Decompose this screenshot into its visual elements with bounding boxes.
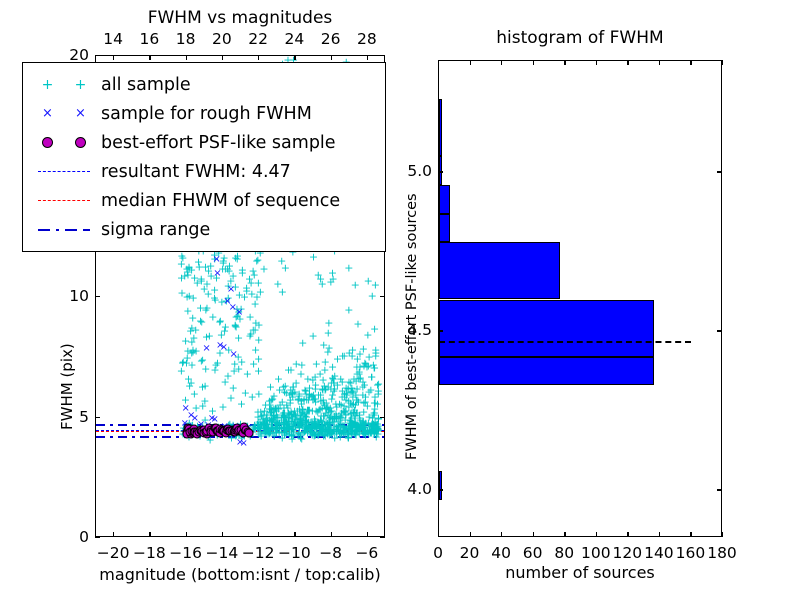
hist-xtick-mark	[596, 532, 597, 537]
data-point: +	[223, 264, 232, 275]
hist-xtick-mark	[659, 532, 660, 537]
data-point: +	[265, 404, 274, 415]
data-point: +	[361, 391, 370, 402]
data-point: +	[277, 256, 286, 267]
data-point: +	[245, 312, 254, 323]
data-point: +	[221, 322, 230, 333]
psf-data-point	[185, 428, 194, 437]
data-point: +	[237, 303, 246, 314]
data-point: +	[231, 281, 240, 292]
data-point: +	[352, 375, 361, 386]
xtick-label-bottom: −12	[242, 544, 275, 562]
data-point: +	[305, 383, 314, 394]
data-point: +	[220, 326, 229, 337]
data-point: +	[318, 278, 327, 289]
data-point: +	[351, 280, 360, 291]
data-point: +	[298, 337, 307, 348]
data-point: +	[347, 412, 356, 423]
data-point: +	[310, 393, 319, 404]
data-point: +	[308, 331, 317, 342]
data-point: +	[374, 414, 383, 425]
data-point: +	[187, 348, 196, 359]
data-point: +	[187, 336, 196, 347]
data-point: +	[305, 405, 314, 416]
data-point: +	[272, 409, 281, 420]
data-point: +	[295, 391, 304, 402]
data-point: +	[311, 380, 320, 391]
data-point: +	[303, 405, 312, 416]
xtick-label-bottom: −14	[206, 544, 239, 562]
hist-reference-line	[439, 341, 691, 343]
data-point: +	[202, 279, 211, 290]
data-point: +	[312, 359, 321, 370]
data-point: +	[267, 407, 276, 418]
data-point: +	[346, 397, 355, 408]
data-point: +	[320, 364, 329, 375]
data-point: +	[254, 366, 263, 377]
data-point: +	[324, 381, 333, 392]
hist-xtick-mark-top	[564, 60, 565, 65]
data-point: +	[275, 417, 284, 428]
data-point: +	[340, 388, 349, 399]
data-point: +	[300, 384, 309, 395]
data-point: +	[181, 394, 190, 405]
data-point: +	[297, 412, 306, 423]
ytick-mark-right	[380, 55, 385, 56]
data-point: +	[269, 391, 278, 402]
data-point: +	[267, 413, 276, 424]
data-point: +	[269, 410, 278, 421]
left-panel-title: FWHM vs magnitudes	[95, 8, 385, 28]
data-point: +	[309, 390, 318, 401]
data-point: +	[280, 417, 289, 428]
data-point: +	[193, 278, 202, 289]
ytick-mark-right	[380, 537, 385, 538]
data-point: +	[301, 386, 310, 397]
hist-ytick-label: 4.5	[386, 321, 432, 339]
data-point: +	[370, 398, 379, 409]
data-point: +	[269, 409, 278, 420]
hist-xtick-mark-top	[722, 60, 723, 65]
data-point: +	[201, 381, 210, 392]
data-point: +	[179, 357, 188, 368]
xtick-mark-bottom	[113, 532, 114, 537]
data-point: +	[288, 411, 297, 422]
data-point: +	[266, 403, 275, 414]
data-point: +	[291, 410, 300, 421]
data-point: +	[358, 390, 367, 401]
xtick-label-top: 18	[176, 30, 196, 48]
data-point: +	[343, 384, 352, 395]
hist-xtick-mark-top	[470, 60, 471, 65]
data-point: +	[269, 410, 278, 421]
data-point: +	[358, 377, 367, 388]
data-point: +	[352, 384, 361, 395]
data-point: +	[288, 433, 297, 444]
data-point: +	[198, 354, 207, 365]
data-point: +	[262, 412, 271, 423]
hist-xtick-mark	[690, 532, 691, 537]
data-point: +	[180, 270, 189, 281]
data-point: +	[225, 266, 234, 277]
data-point: +	[217, 297, 226, 308]
data-point: +	[340, 392, 349, 403]
data-point: +	[283, 402, 292, 413]
data-point: +	[235, 313, 244, 324]
dashdot-line-icon	[38, 229, 90, 231]
data-point: +	[224, 345, 233, 356]
hist-xtick-label: 100	[581, 544, 611, 562]
data-point: +	[332, 413, 341, 424]
data-point: ×	[235, 308, 243, 318]
data-point: +	[254, 277, 263, 288]
data-point: +	[359, 360, 368, 371]
data-point: +	[269, 403, 278, 414]
legend-marker: ++	[31, 70, 97, 99]
left-xaxis-label: magnitude (bottom:isnt / top:calib)	[99, 565, 380, 584]
data-point: +	[297, 417, 306, 428]
data-point: +	[275, 417, 284, 428]
data-point: +	[292, 378, 301, 389]
legend-marker: ××	[31, 99, 97, 128]
data-point: +	[241, 387, 250, 398]
data-point: +	[344, 402, 353, 413]
data-point: +	[333, 353, 342, 364]
data-point: +	[188, 347, 197, 358]
data-point: +	[178, 253, 187, 264]
legend-label: sigma range	[97, 220, 210, 240]
data-point: +	[287, 388, 296, 399]
data-point: +	[347, 351, 356, 362]
data-point: +	[279, 407, 288, 418]
data-point: +	[295, 412, 304, 423]
data-point: +	[188, 344, 197, 355]
plus-icon: +	[75, 78, 87, 92]
data-point: +	[271, 402, 280, 413]
data-point: +	[248, 391, 257, 402]
data-point: +	[298, 405, 307, 416]
xtick-mark-bottom	[294, 532, 295, 537]
data-point: +	[367, 372, 376, 383]
data-point: ×	[236, 438, 244, 448]
data-point: +	[204, 289, 213, 300]
data-point: +	[234, 363, 243, 374]
data-point: +	[281, 380, 290, 391]
hist-ytick-mark-right	[717, 489, 722, 490]
data-point: +	[185, 291, 194, 302]
legend-label: best-effort PSF-like sample	[97, 133, 336, 153]
ytick-mark	[95, 537, 100, 538]
data-point: +	[271, 417, 280, 428]
data-point: +	[374, 379, 383, 390]
data-point: +	[353, 368, 362, 379]
data-point: ×	[230, 350, 238, 360]
data-point: +	[288, 387, 297, 398]
hist-xtick-mark	[564, 532, 565, 537]
data-point: +	[197, 356, 206, 367]
data-point: ×	[212, 255, 220, 265]
data-point: +	[361, 396, 370, 407]
data-point: +	[370, 362, 379, 373]
data-point: +	[188, 313, 197, 324]
plus-icon: +	[42, 78, 54, 92]
data-point: +	[319, 394, 328, 405]
hist-ytick-label: 5.0	[386, 162, 432, 180]
legend-label: median FHWM of sequence	[97, 191, 340, 211]
data-point: +	[205, 330, 214, 341]
legend-label: sample for rough FWHM	[97, 104, 312, 124]
xtick-mark-bottom	[367, 532, 368, 537]
data-point: +	[369, 363, 378, 374]
hist-xtick-mark-top	[690, 60, 691, 65]
data-point: +	[355, 412, 364, 423]
data-point: +	[328, 390, 337, 401]
data-point: +	[231, 321, 240, 332]
ytick-mark	[95, 296, 100, 297]
data-point: +	[365, 411, 374, 422]
data-point: +	[267, 407, 276, 418]
data-point: +	[302, 411, 311, 422]
data-point: +	[305, 391, 314, 402]
hist-xtick-label: 80	[554, 544, 574, 562]
circle-icon	[75, 137, 86, 148]
data-point: +	[297, 396, 306, 407]
data-point: +	[183, 352, 192, 363]
data-point: +	[329, 377, 338, 388]
data-point: +	[249, 324, 258, 335]
data-point: +	[341, 406, 350, 417]
data-point: +	[319, 410, 328, 421]
data-point: +	[314, 269, 323, 280]
data-point: +	[249, 359, 258, 370]
data-point: +	[278, 409, 287, 420]
legend-label: all sample	[97, 75, 191, 95]
data-point: +	[311, 372, 320, 383]
legend-item: resultant FWHM: 4.47	[31, 157, 375, 186]
data-point: +	[330, 383, 339, 394]
data-point: +	[310, 414, 319, 425]
xtick-mark-top	[294, 55, 295, 60]
data-point: +	[234, 352, 243, 363]
data-point: +	[311, 384, 320, 395]
hist-xtick-label: 20	[460, 544, 480, 562]
data-point: +	[332, 410, 341, 421]
data-point: +	[215, 316, 224, 327]
data-point: +	[249, 265, 258, 276]
data-point: +	[352, 395, 361, 406]
data-point: +	[317, 410, 326, 421]
data-point: +	[268, 393, 277, 404]
legend-marker	[31, 215, 97, 244]
reference-line	[96, 424, 384, 426]
data-point: +	[364, 418, 373, 429]
data-point: +	[253, 411, 262, 422]
data-point: +	[206, 260, 215, 271]
data-point: +	[184, 374, 193, 385]
data-point: +	[302, 418, 311, 429]
data-point: +	[349, 407, 358, 418]
data-point: +	[332, 401, 341, 412]
data-point: +	[351, 411, 360, 422]
data-point: +	[322, 403, 331, 414]
data-point: +	[196, 315, 205, 326]
data-point: +	[233, 253, 242, 264]
hist-xtick-mark	[438, 532, 439, 537]
data-point: +	[339, 401, 348, 412]
data-point: +	[338, 351, 347, 362]
data-point: +	[281, 262, 290, 273]
data-point: +	[301, 411, 310, 422]
data-point: +	[279, 381, 288, 392]
data-point: +	[184, 261, 193, 272]
data-point: +	[363, 401, 372, 412]
data-point: +	[326, 276, 335, 287]
histogram-bar	[439, 357, 654, 386]
data-point: +	[226, 276, 235, 287]
data-point: +	[370, 391, 379, 402]
data-point: +	[235, 289, 244, 300]
data-point: +	[353, 354, 362, 365]
data-point: +	[210, 253, 219, 264]
data-point: +	[285, 389, 294, 400]
data-point: +	[307, 391, 316, 402]
data-point: +	[368, 413, 377, 424]
data-point: +	[316, 273, 325, 284]
legend-item: ++all sample	[31, 70, 375, 99]
data-point: +	[296, 368, 305, 379]
data-point: +	[300, 408, 309, 419]
xtick-mark-bottom	[258, 532, 259, 537]
hist-xtick-label: 40	[491, 544, 511, 562]
data-point: ×	[182, 404, 190, 414]
data-point: +	[253, 254, 262, 265]
data-point: +	[355, 367, 364, 378]
data-point: +	[371, 280, 380, 291]
data-point: ×	[220, 343, 228, 353]
data-point: +	[359, 406, 368, 417]
data-point: +	[344, 384, 353, 395]
data-point: +	[197, 275, 206, 286]
data-point: +	[326, 403, 335, 414]
hist-xtick-label: 140	[644, 544, 674, 562]
data-point: +	[256, 417, 265, 428]
data-point: +	[177, 288, 186, 299]
data-point: +	[211, 295, 220, 306]
data-point: +	[192, 346, 201, 357]
dashed-line-icon	[38, 171, 90, 172]
data-point: +	[303, 405, 312, 416]
data-point: +	[273, 412, 282, 423]
psf-data-point	[244, 428, 253, 437]
data-point: +	[266, 407, 275, 418]
data-point: +	[251, 344, 260, 355]
data-point: +	[292, 417, 301, 428]
data-point: +	[288, 381, 297, 392]
data-point: +	[297, 399, 306, 410]
data-point: +	[305, 389, 314, 400]
data-point: +	[210, 292, 219, 303]
data-point: +	[212, 273, 221, 284]
data-point: +	[323, 346, 332, 357]
data-point: +	[333, 380, 342, 391]
data-point: +	[190, 272, 199, 283]
data-point: +	[257, 411, 266, 422]
data-point: ×	[202, 344, 210, 354]
data-point: +	[211, 359, 220, 370]
data-point: +	[237, 357, 246, 368]
hist-ytick-mark	[438, 171, 443, 172]
data-point: +	[254, 335, 263, 346]
data-point: +	[371, 351, 380, 362]
xtick-label-bottom: −8	[319, 544, 342, 562]
data-point: +	[280, 387, 289, 398]
xtick-mark-top	[149, 55, 150, 60]
data-point: +	[337, 392, 346, 403]
data-point: +	[287, 413, 296, 424]
data-point: +	[355, 410, 364, 421]
data-point: +	[296, 418, 305, 429]
data-point: +	[289, 408, 298, 419]
histogram-bar	[439, 185, 450, 214]
data-point: +	[269, 410, 278, 421]
data-point: +	[240, 291, 249, 302]
data-point: +	[178, 358, 187, 369]
data-point: +	[337, 407, 346, 418]
data-point: +	[229, 271, 238, 282]
hist-xtick-mark-top	[627, 60, 628, 65]
data-point: +	[189, 332, 198, 343]
data-point: +	[289, 382, 298, 393]
data-point: +	[340, 350, 349, 361]
data-point: +	[299, 394, 308, 405]
data-point: +	[237, 399, 246, 410]
data-point: +	[271, 403, 280, 414]
data-point: +	[352, 362, 361, 373]
ytick-mark-right	[380, 296, 385, 297]
data-point: +	[348, 386, 357, 397]
data-point: +	[256, 286, 265, 297]
data-point: +	[351, 399, 360, 410]
data-point: +	[308, 375, 317, 386]
circle-icon	[42, 137, 53, 148]
xtick-mark-top	[186, 55, 187, 60]
data-point: +	[358, 382, 367, 393]
data-point: +	[293, 405, 302, 416]
xtick-label-top: 28	[357, 30, 377, 48]
data-point: +	[313, 406, 322, 417]
data-point: +	[206, 271, 215, 282]
data-point: +	[224, 281, 233, 292]
data-point: +	[291, 410, 300, 421]
data-point: +	[259, 410, 268, 421]
xtick-label-bottom: −18	[133, 544, 166, 562]
data-point: +	[284, 413, 293, 424]
data-point: +	[290, 387, 299, 398]
ytick-mark	[95, 55, 100, 56]
data-point: +	[311, 396, 320, 407]
xtick-mark-top	[331, 55, 332, 60]
legend-item: sigma range	[31, 215, 375, 244]
data-point: +	[331, 411, 340, 422]
data-point: +	[277, 413, 286, 424]
data-point: +	[346, 418, 355, 429]
data-point: +	[328, 414, 337, 425]
data-point: +	[347, 382, 356, 393]
data-point: +	[359, 398, 368, 409]
data-point: +	[361, 359, 370, 370]
data-point: +	[234, 307, 243, 318]
data-point: +	[345, 418, 354, 429]
